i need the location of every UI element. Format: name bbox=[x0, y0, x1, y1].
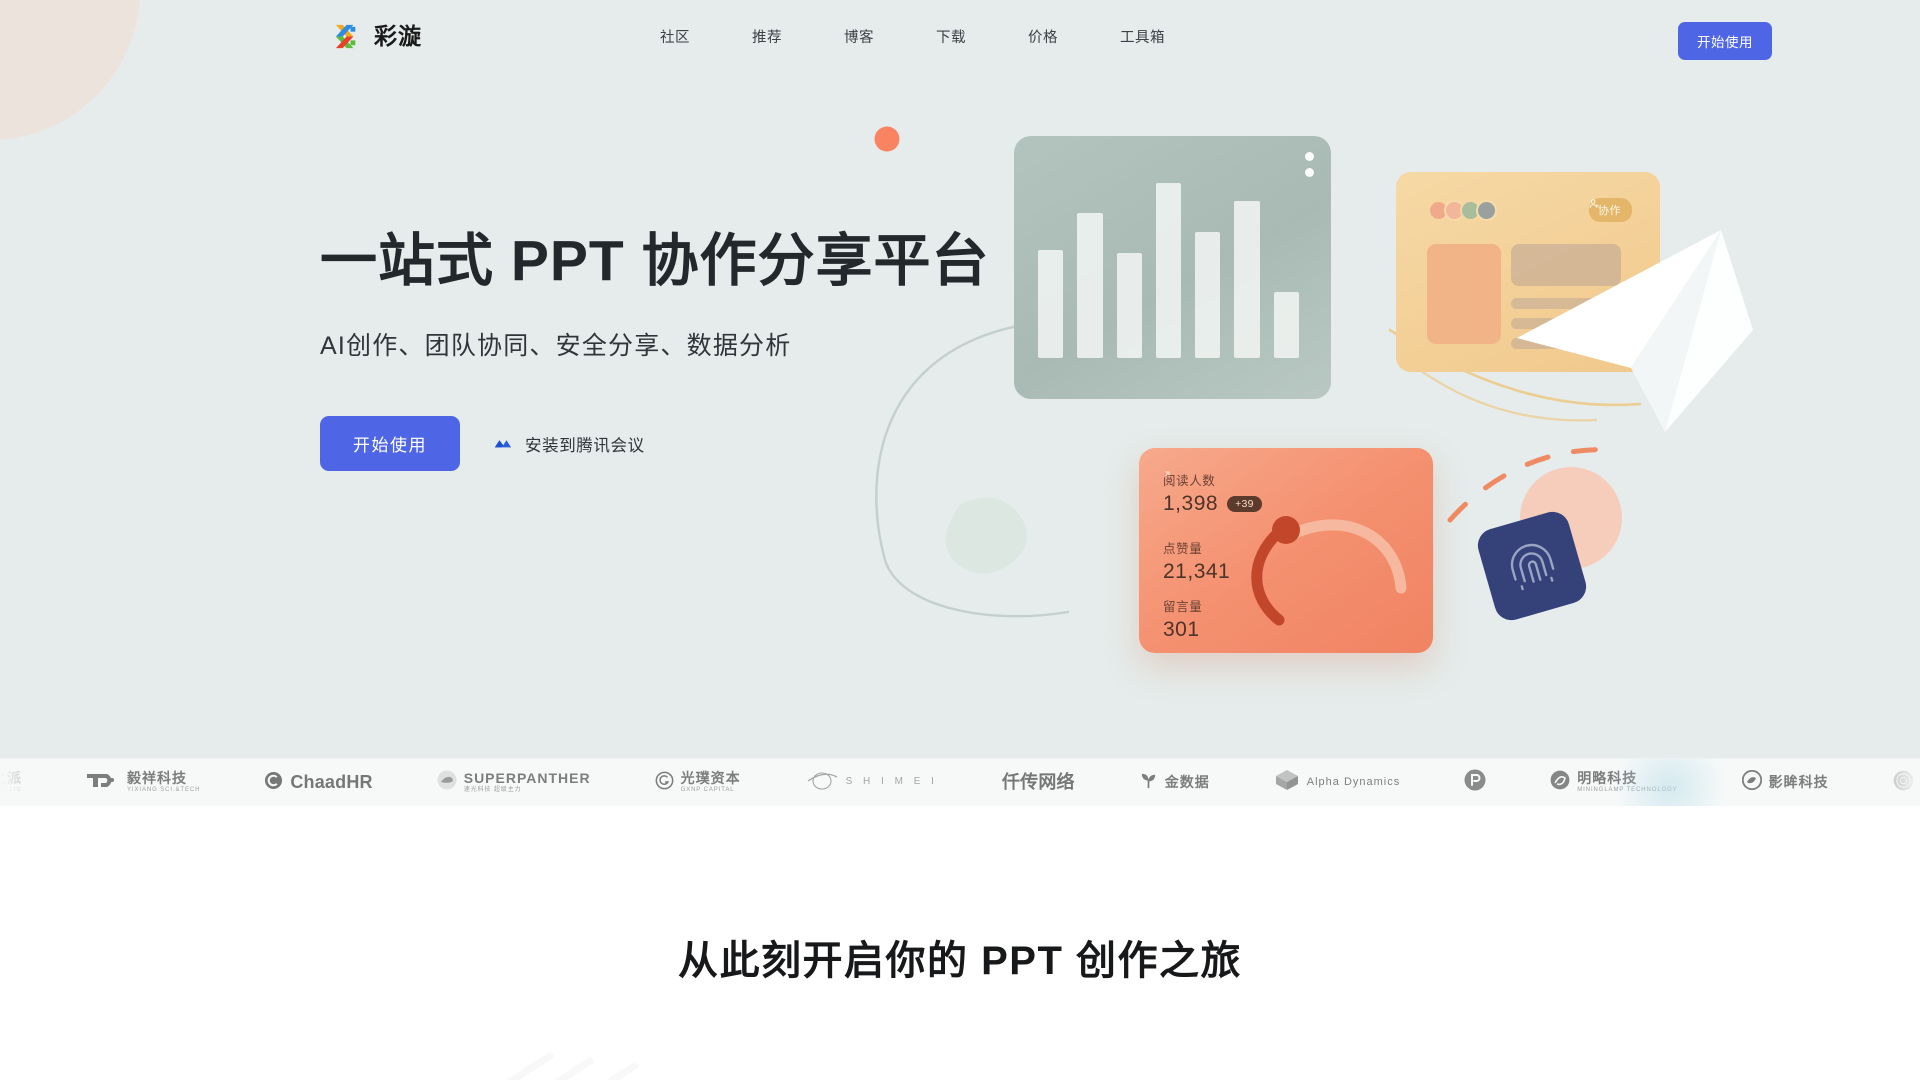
stat-value-row: 1,398 +39 bbox=[1163, 492, 1262, 516]
stat-item: 点赞量 21,341 bbox=[1163, 538, 1230, 584]
partner-logo-subtitle: 速光科技 超级主力 bbox=[464, 787, 591, 793]
partner-logo-name: 金数据 bbox=[1165, 775, 1210, 790]
partner-logo-name: ChaadHR bbox=[290, 773, 372, 792]
cta-section: 从此刻开启你的 PPT 创作之旅 bbox=[0, 806, 1920, 1080]
partner-logo-text: 毅祥科技YIXIANG SCI.&TECH bbox=[127, 771, 200, 793]
partner-logo-name: 光璞资本 bbox=[681, 771, 741, 786]
partner-logo-name: 明略科技 bbox=[1577, 771, 1677, 786]
chart-bar-2 bbox=[1117, 253, 1142, 358]
partner-logo-track: 花之派HUA ZHI LIU毅祥科技YIXIANG SCI.&TECHChaad… bbox=[0, 768, 1920, 797]
circle-g-mark-icon bbox=[655, 771, 674, 795]
avatar-group bbox=[1428, 200, 1492, 221]
partner-logo-text: 金数据 bbox=[1165, 775, 1210, 790]
chart-bar-5 bbox=[1234, 201, 1259, 359]
stat-label: 点赞量 bbox=[1163, 538, 1230, 557]
brand-logo[interactable]: 彩漩 bbox=[334, 21, 422, 52]
hero-copy: 一站式 PPT 协作分享平台 AI创作、团队协同、安全分享、数据分析 开始使用 … bbox=[320, 228, 990, 471]
brand-name: 彩漩 bbox=[374, 25, 422, 48]
partner-logo-name: 毅祥科技 bbox=[127, 771, 200, 786]
stat-label: 阅读人数 bbox=[1163, 470, 1262, 489]
stat-item: 阅读人数 1,398 +39 bbox=[1163, 470, 1262, 516]
collab-placeholder-image bbox=[1427, 244, 1501, 344]
nav-item-4[interactable]: 价格 bbox=[1028, 26, 1058, 47]
avatar-3 bbox=[1476, 200, 1497, 221]
partner-logo-name: S H I M E I bbox=[846, 777, 938, 788]
hero-subtitle: AI创作、团队协同、安全分享、数据分析 bbox=[320, 326, 990, 362]
main-navigation: 社区推荐博客下载价格工具箱 bbox=[660, 26, 1165, 47]
cube-mark-icon bbox=[1274, 768, 1300, 797]
tencent-meeting-icon bbox=[494, 437, 514, 451]
partner-logo: 金数据 bbox=[1139, 771, 1210, 795]
partner-logo-subtitle: GXNP CAPITAL bbox=[681, 787, 741, 793]
circle-swirl-mark-icon bbox=[1550, 770, 1570, 795]
cta-section-title: 从此刻开启你的 PPT 创作之旅 bbox=[0, 928, 1920, 986]
stat-value: 301 bbox=[1163, 618, 1202, 642]
collab-badge-label: 协作 bbox=[1598, 202, 1621, 218]
arrow-up-right-icon bbox=[1163, 470, 1171, 478]
panther-mark-icon bbox=[437, 770, 457, 795]
partner-logo: 毅祥科技YIXIANG SCI.&TECH bbox=[86, 771, 200, 795]
hero-start-button[interactable]: 开始使用 bbox=[320, 416, 460, 471]
chart-bar-1 bbox=[1077, 213, 1102, 358]
install-tencent-meeting-label: 安装到腾讯会议 bbox=[525, 432, 645, 456]
ellipse-mark-icon bbox=[805, 770, 839, 795]
partner-logo-subtitle: MININGLAMP TECHNOLOGY bbox=[1577, 787, 1677, 793]
nav-item-5[interactable]: 工具箱 bbox=[1120, 26, 1165, 47]
fox-mark-icon bbox=[86, 771, 120, 795]
partner-logo-text: 影眸科技 bbox=[1769, 775, 1829, 790]
partner-logo: Alpha Dynamics bbox=[1274, 768, 1400, 797]
partner-logo-text: 仟传网络 bbox=[1002, 773, 1075, 792]
partner-logo-text: SUPERPANTHER速光科技 超级主力 bbox=[464, 771, 591, 793]
install-tencent-meeting-button[interactable]: 安装到腾讯会议 bbox=[494, 432, 645, 456]
landing-page: 协作 bbox=[0, 0, 1920, 1080]
chart-bar-3 bbox=[1156, 183, 1181, 358]
chart-bar-0 bbox=[1038, 250, 1063, 359]
stat-label: 留言量 bbox=[1163, 596, 1202, 615]
chart-bar-4 bbox=[1195, 232, 1220, 358]
partner-logo-name: 花之派 bbox=[0, 771, 22, 786]
partner-logo-text: ChaadHR bbox=[290, 773, 372, 792]
partner-logo: S H I M E I bbox=[805, 770, 938, 795]
hero-actions: 开始使用 安装到腾讯会议 bbox=[320, 416, 990, 471]
partner-logo: 光璞资本GXNP CAPITAL bbox=[655, 771, 741, 795]
circle-emblem-mark-icon bbox=[1893, 770, 1914, 796]
partner-logo-name: Alpha Dynamics bbox=[1307, 777, 1400, 789]
partner-logo: 蓝院管理BLUE YARD MANAGEMENT bbox=[1893, 770, 1920, 796]
partner-logo: SUPERPANTHER速光科技 超级主力 bbox=[437, 770, 591, 795]
add-person-icon bbox=[1589, 198, 1600, 209]
stat-delta-value: +39 bbox=[1235, 498, 1254, 510]
paper-plane-icon bbox=[1505, 218, 1765, 448]
partner-logo-subtitle: YIXIANG SCI.&TECH bbox=[127, 787, 200, 793]
card-menu-dots-icon bbox=[1305, 152, 1314, 184]
stat-value: 1,398 bbox=[1163, 492, 1218, 516]
partner-logo-name: 仟传网络 bbox=[1002, 773, 1075, 792]
bar-chart bbox=[1038, 183, 1299, 358]
sprout-mark-icon bbox=[1139, 771, 1158, 795]
header-start-button[interactable]: 开始使用 bbox=[1678, 22, 1772, 60]
partner-logo bbox=[1464, 769, 1486, 796]
hero-section: 协作 bbox=[0, 0, 1920, 758]
partner-logo: ChaadHR bbox=[264, 771, 372, 795]
circle-eye-mark-icon bbox=[1742, 770, 1762, 795]
partner-logo-text: Alpha Dynamics bbox=[1307, 777, 1400, 789]
partner-logo-name: SUPERPANTHER bbox=[464, 771, 591, 786]
partner-logo: 仟传网络 bbox=[1002, 773, 1075, 792]
partner-logo-text: S H I M E I bbox=[846, 777, 938, 788]
hero-title: 一站式 PPT 协作分享平台 bbox=[320, 228, 990, 294]
fingerprint-icon bbox=[1497, 531, 1566, 600]
partner-logo-text: 光璞资本GXNP CAPITAL bbox=[681, 771, 741, 793]
circle-c-mark-icon bbox=[264, 771, 283, 795]
partner-logo-name: 影眸科技 bbox=[1769, 775, 1829, 790]
stat-delta-badge: +39 bbox=[1227, 496, 1262, 512]
stat-value: 21,341 bbox=[1163, 560, 1230, 584]
partner-logo-subtitle: HUA ZHI LIU bbox=[0, 787, 22, 793]
analytics-chart-card bbox=[1014, 136, 1331, 399]
site-header: 彩漩 社区推荐博客下载价格工具箱 开始使用 bbox=[0, 0, 1920, 76]
nav-item-2[interactable]: 博客 bbox=[844, 26, 874, 47]
partner-logo: 影眸科技 bbox=[1742, 770, 1829, 795]
nav-item-0[interactable]: 社区 bbox=[660, 26, 690, 47]
circle-p-mark-icon bbox=[1464, 769, 1486, 796]
partner-logo-text: 明略科技MININGLAMP TECHNOLOGY bbox=[1577, 771, 1677, 793]
nav-item-3[interactable]: 下载 bbox=[936, 26, 966, 47]
partner-logo-text: 花之派HUA ZHI LIU bbox=[0, 771, 22, 793]
stats-card: 阅读人数 1,398 +39 点赞量 21,341 bbox=[1139, 448, 1433, 653]
partner-logo: 明略科技MININGLAMP TECHNOLOGY bbox=[1550, 770, 1677, 795]
nav-item-1[interactable]: 推荐 bbox=[752, 26, 782, 47]
colorful-x-pinwheel-logo-icon bbox=[334, 21, 365, 52]
decorative-faint-artwork bbox=[400, 1036, 700, 1080]
partner-logo: 花之派HUA ZHI LIU bbox=[0, 771, 22, 794]
partner-logo-marquee: 花之派HUA ZHI LIU毅祥科技YIXIANG SCI.&TECHChaad… bbox=[0, 758, 1920, 806]
stat-item: 留言量 301 bbox=[1163, 596, 1202, 642]
chart-bar-6 bbox=[1274, 292, 1299, 359]
